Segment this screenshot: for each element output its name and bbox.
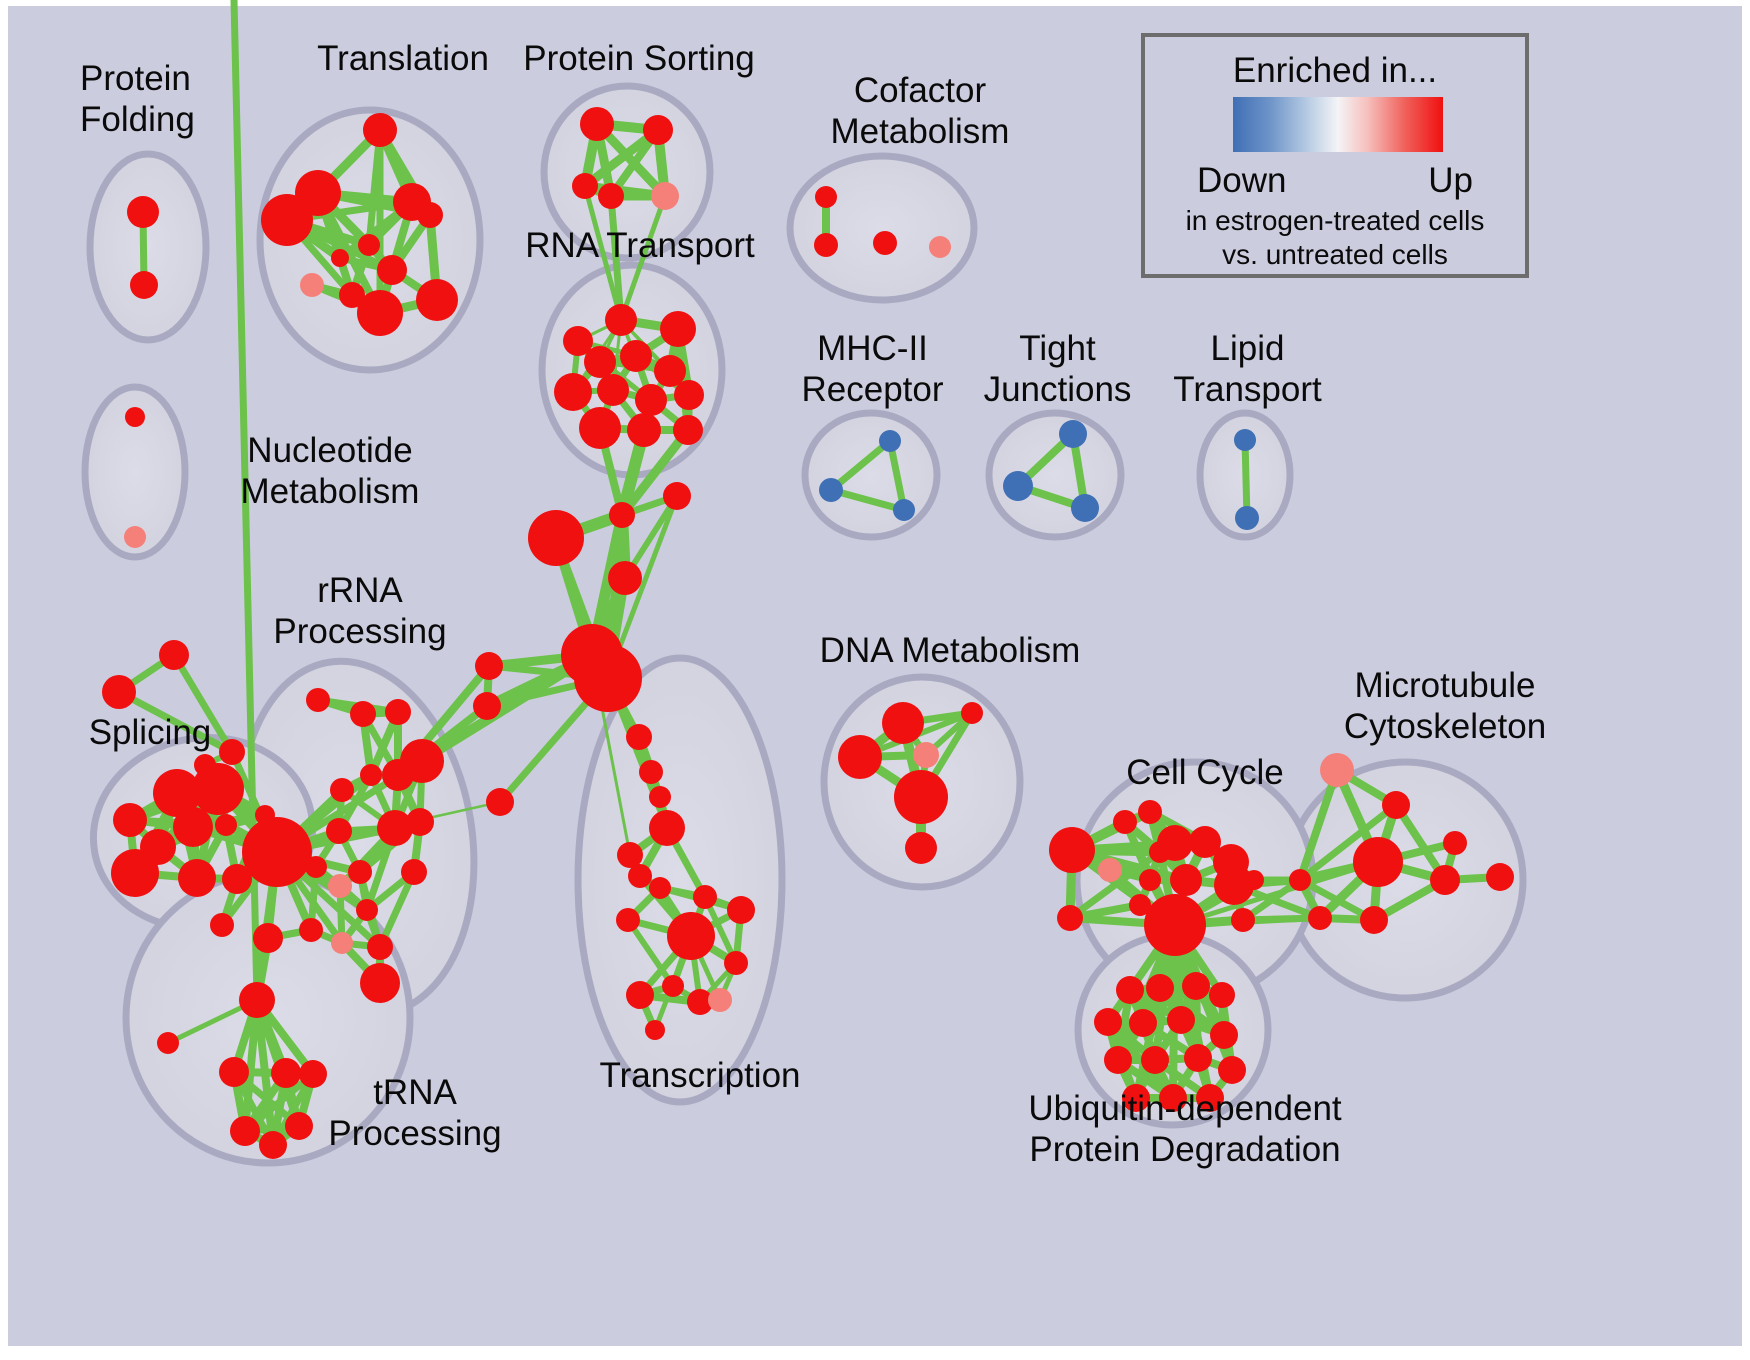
cluster-label-tight-junctions: Tight Junctions — [965, 328, 1150, 410]
node — [242, 817, 312, 887]
node — [377, 255, 407, 285]
node — [1430, 865, 1460, 895]
node — [305, 856, 327, 878]
node — [584, 346, 616, 378]
node — [406, 808, 434, 836]
node — [528, 510, 584, 566]
node — [620, 340, 652, 372]
node — [299, 918, 323, 942]
node — [1443, 831, 1467, 855]
node — [708, 988, 732, 1012]
node — [1149, 841, 1171, 863]
node — [360, 963, 400, 1003]
node — [330, 778, 354, 802]
node — [1235, 506, 1259, 530]
node — [1129, 1009, 1157, 1037]
cluster-label-ubiquitin: Ubiquitin-dependent Protein Degradation — [975, 1088, 1395, 1170]
node — [261, 194, 313, 246]
node — [660, 311, 696, 347]
node — [331, 932, 353, 954]
hull-mhc-ii — [805, 413, 937, 537]
node — [873, 231, 897, 255]
node — [1210, 1021, 1238, 1049]
node — [215, 814, 237, 836]
node — [662, 975, 684, 997]
node — [360, 764, 382, 786]
node — [1167, 1006, 1195, 1034]
node — [400, 739, 444, 783]
node — [1486, 863, 1514, 891]
node — [1098, 858, 1122, 882]
node — [363, 113, 397, 147]
node — [913, 742, 939, 768]
node — [893, 499, 915, 521]
node — [727, 896, 755, 924]
cluster-label-cell-cycle: Cell Cycle — [1090, 752, 1320, 793]
node — [1141, 1046, 1169, 1074]
cluster-label-mhc-ii: MHC-II Receptor — [770, 328, 975, 410]
node — [111, 849, 159, 897]
node — [819, 478, 843, 502]
node — [1113, 810, 1137, 834]
node — [580, 107, 614, 141]
figure-canvas: .hull{fill:url(#hullg);stroke:#a9a9c2;st… — [0, 0, 1750, 1360]
node — [259, 1131, 287, 1159]
node — [649, 810, 685, 846]
node — [401, 859, 427, 885]
node — [219, 1057, 249, 1087]
node — [574, 644, 642, 712]
node — [1308, 906, 1332, 930]
node — [643, 115, 673, 145]
node — [125, 407, 145, 427]
node — [572, 173, 598, 199]
node — [663, 482, 691, 510]
node — [1382, 791, 1410, 819]
node — [815, 186, 837, 208]
hull-cofactor — [790, 156, 974, 300]
node — [608, 561, 642, 595]
cluster-label-trna-processing: tRNA Processing — [300, 1072, 530, 1154]
node — [673, 415, 703, 445]
legend-low-label: Down — [1197, 161, 1286, 201]
cluster-label-microtubule: Microtubule Cytoskeleton — [1290, 665, 1600, 747]
node — [253, 923, 283, 953]
node — [838, 735, 882, 779]
node — [159, 640, 189, 670]
node — [306, 688, 330, 712]
cluster-label-translation: Translation — [278, 38, 528, 79]
node — [1244, 870, 1264, 890]
node — [124, 526, 146, 548]
node — [628, 864, 652, 888]
node — [350, 701, 376, 727]
node — [693, 885, 717, 909]
node — [1059, 420, 1087, 448]
node — [417, 202, 443, 228]
cluster-label-transcription: Transcription — [560, 1055, 840, 1096]
node — [651, 182, 679, 210]
node — [905, 832, 937, 864]
node — [645, 1020, 665, 1040]
cluster-label-rrna-processing: rRNA Processing — [245, 570, 475, 652]
node — [328, 874, 352, 898]
node — [192, 763, 244, 815]
node — [1146, 974, 1174, 1002]
node — [929, 236, 951, 258]
node — [1071, 494, 1099, 522]
node — [271, 1058, 301, 1088]
cluster-label-rna-transport: RNA Transport — [500, 225, 780, 266]
node — [674, 380, 704, 410]
legend-high-label: Up — [1428, 161, 1473, 201]
node — [1139, 869, 1161, 891]
node — [882, 702, 924, 744]
node — [1218, 1056, 1246, 1084]
node — [598, 183, 624, 209]
node — [649, 786, 671, 808]
node — [609, 502, 635, 528]
node — [1057, 905, 1083, 931]
node — [173, 807, 213, 847]
node — [113, 803, 147, 837]
legend-box: Enriched in... Down Up in estrogen-treat… — [1141, 33, 1529, 278]
node — [326, 818, 352, 844]
node — [1104, 1046, 1132, 1074]
node — [230, 1116, 260, 1146]
node — [331, 249, 349, 267]
node — [579, 407, 621, 449]
node — [639, 760, 663, 784]
hull-protein-folding — [90, 154, 206, 340]
node — [626, 724, 652, 750]
cluster-label-protein-folding: Protein Folding — [80, 58, 280, 140]
cluster-label-lipid-transport: Lipid Transport — [1155, 328, 1340, 410]
node — [1003, 471, 1033, 501]
node — [1182, 972, 1210, 1000]
node — [1094, 1008, 1122, 1036]
node — [1138, 800, 1162, 824]
node — [1049, 827, 1095, 873]
node — [1360, 906, 1388, 934]
node — [814, 233, 838, 257]
node — [210, 913, 234, 937]
node — [356, 899, 378, 921]
node — [649, 877, 671, 899]
node — [894, 770, 948, 824]
node — [486, 788, 514, 816]
node — [1353, 837, 1403, 887]
node — [358, 234, 380, 256]
node — [239, 982, 275, 1018]
cluster-label-nucleotide: Nucleotide Metabolism — [190, 430, 470, 512]
cluster-label-protein-sorting: Protein Sorting — [494, 38, 784, 79]
node — [127, 196, 159, 228]
node — [635, 384, 667, 416]
node — [1170, 864, 1202, 896]
node — [554, 373, 592, 411]
node — [300, 273, 324, 297]
legend-subtitle-line2: vs. untreated cells — [1145, 239, 1525, 271]
node — [627, 413, 661, 447]
node — [102, 675, 136, 709]
cluster-label-dna-metabolism: DNA Metabolism — [805, 630, 1095, 671]
node — [724, 951, 748, 975]
node — [178, 859, 216, 897]
cluster-label-cofactor: Cofactor Metabolism — [790, 70, 1050, 152]
node — [597, 374, 629, 406]
cluster-label-splicing: Splicing — [55, 712, 245, 753]
node — [1320, 753, 1354, 787]
node — [416, 279, 458, 321]
node — [961, 702, 983, 724]
node — [605, 304, 637, 336]
node — [1209, 982, 1235, 1008]
legend-colorbar — [1233, 97, 1443, 152]
node — [1144, 894, 1206, 956]
hull-transcription — [578, 658, 782, 1102]
node — [348, 860, 372, 884]
legend-subtitle-line1: in estrogen-treated cells — [1145, 205, 1525, 237]
node — [626, 981, 654, 1009]
node — [1116, 976, 1144, 1004]
node — [475, 652, 503, 680]
node — [879, 430, 901, 452]
node — [1184, 1044, 1212, 1072]
node — [367, 934, 393, 960]
node — [1234, 429, 1256, 451]
node — [385, 699, 411, 725]
node — [616, 908, 640, 932]
legend-title: Enriched in... — [1145, 51, 1525, 91]
node — [1289, 869, 1311, 891]
node — [357, 290, 403, 336]
node — [473, 692, 501, 720]
node — [667, 912, 715, 960]
node — [130, 271, 158, 299]
node — [157, 1032, 179, 1054]
node — [1231, 908, 1255, 932]
